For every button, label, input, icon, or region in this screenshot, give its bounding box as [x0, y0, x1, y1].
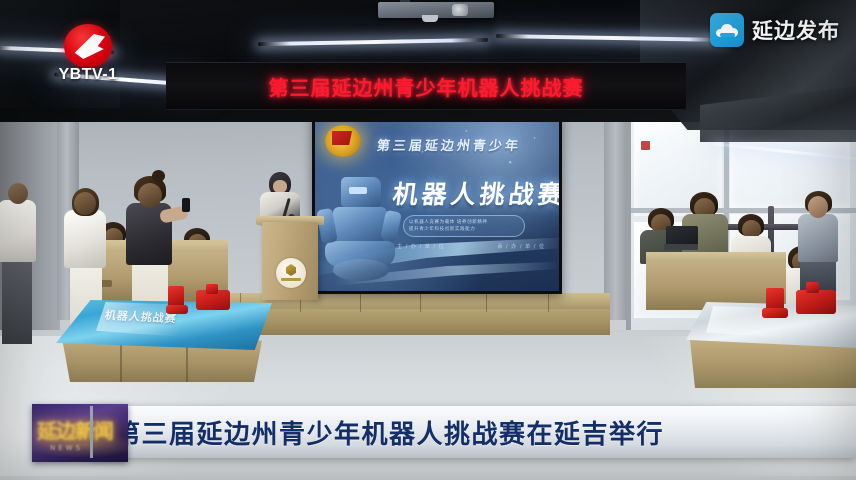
person-torso [0, 200, 36, 262]
institution-emblem [276, 258, 306, 288]
screen-organizers: 主 / 办 / 单 / 位 承 / 办 / 单 / 位 [397, 243, 545, 250]
person-face [138, 183, 162, 208]
screen-subtitle-line1: 以机器人竞赛为载体 培养创新精神 [409, 219, 519, 226]
broadcast-video-frame: 第三届延边州青少年 机器人挑战赛 以机器人竞赛为载体 培养创新精神 提升青少年科… [0, 0, 856, 480]
screen-title-line1: 第三届延边州青少年 [376, 135, 522, 154]
ceiling-projector [378, 2, 494, 18]
fire-alarm-device [641, 141, 650, 150]
lower-third-headline: 第三届延边州青少年机器人挑战赛在延吉举行 [114, 414, 664, 451]
stage-seam [360, 293, 361, 312]
laptop-base [664, 244, 698, 250]
robot-part [762, 308, 788, 318]
person-torso [64, 210, 106, 268]
window-frame [626, 104, 631, 336]
stage-seam [486, 293, 487, 312]
projection-screen-content: 第三届延边州青少年 机器人挑战赛 以机器人竞赛为载体 培养创新精神 提升青少年科… [315, 117, 559, 291]
stage-seam [420, 293, 421, 312]
publisher-badge: 延边发布 [710, 12, 840, 48]
publisher-badge-text: 延边发布 [752, 15, 840, 45]
laptop-screen [666, 226, 698, 245]
channel-logo-text: YBTV-1 [42, 66, 134, 84]
channel-logo: YBTV-1 [42, 24, 134, 88]
robot-part [796, 290, 836, 314]
person-legs [2, 258, 32, 344]
lower-third-bar: 第三届延边州青少年机器人挑战赛在延吉举行 [90, 406, 856, 458]
robot-part [206, 284, 218, 294]
robot-part [806, 282, 819, 293]
person-head [8, 183, 28, 204]
person-face [74, 192, 96, 215]
person-torso [798, 214, 838, 262]
organizer-right-label: 承 / 办 / 单 / 位 [497, 243, 545, 250]
screen-title-line2: 机器人挑战赛 [391, 175, 559, 211]
person-face [808, 196, 828, 218]
table-panel-seam [120, 340, 122, 382]
stage-seam [548, 293, 549, 312]
screen-subtitle-box: 以机器人竞赛为载体 培养创新精神 提升青少年科技创新实践能力 [403, 215, 525, 237]
competition-table-base-right [690, 340, 856, 388]
screen-subtitle-line2: 提升青少年科技创新实践能力 [409, 226, 519, 233]
person-hair-bun [152, 170, 165, 182]
youth-league-emblem [325, 125, 361, 157]
projection-screen: 第三届延边州青少年 机器人挑战赛 以机器人竞赛为载体 培养创新精神 提升青少年科… [312, 114, 562, 294]
projector-lens [452, 4, 468, 16]
led-banner-text: 第三届延边州青少年机器人挑战赛 [269, 72, 584, 101]
smartphone [182, 198, 190, 212]
cloud-icon [710, 13, 744, 47]
robot-part [166, 305, 188, 314]
cloud-glyph [716, 24, 738, 37]
program-logo-bug: 延边新闻 NEWS [32, 404, 128, 462]
lower-third-left-edge [90, 406, 93, 458]
program-bug-subtext: NEWS [50, 444, 83, 452]
organizer-left-label: 主 / 办 / 单 / 位 [397, 243, 445, 250]
led-banner-sign: 第三届延边州青少年机器人挑战赛 [166, 62, 686, 110]
program-bug-text: 延边新闻 [37, 415, 128, 444]
